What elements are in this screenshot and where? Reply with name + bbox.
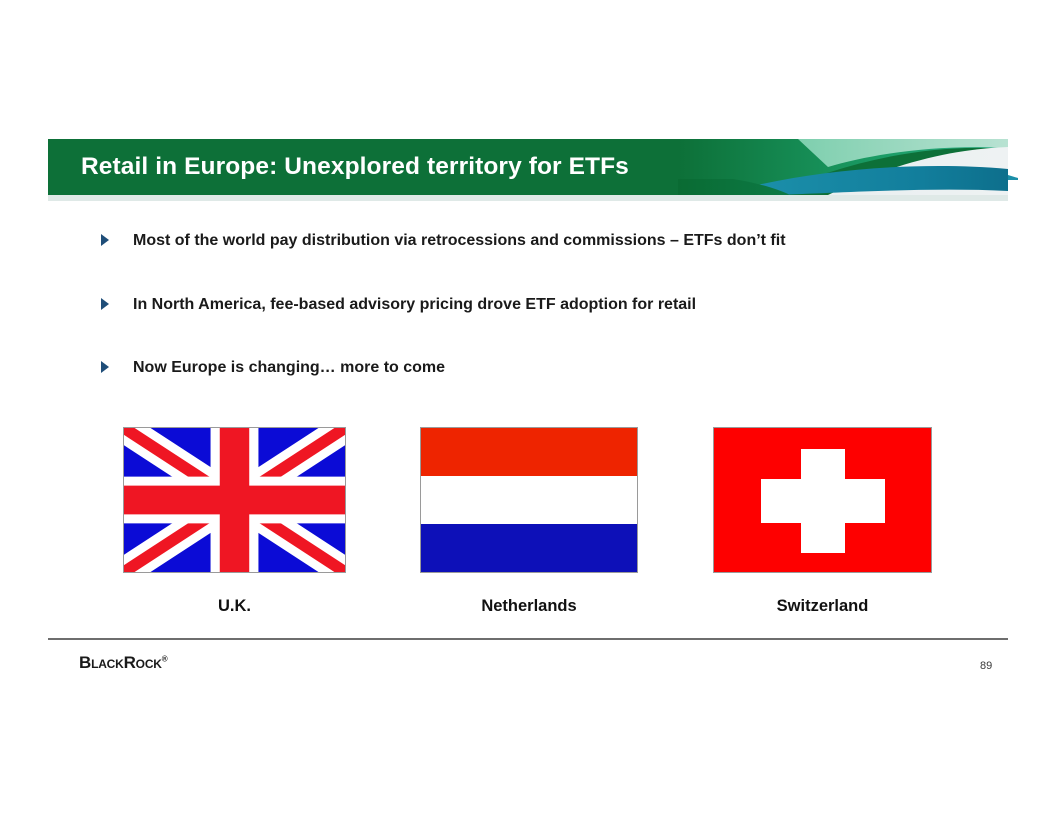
switzerland-flag-icon	[713, 427, 932, 573]
page-title: Retail in Europe: Unexplored territory f…	[81, 139, 629, 195]
union-jack-flag-icon	[123, 427, 346, 573]
ch-cross-horizontal	[761, 479, 885, 523]
bullet-item-1: Most of the world pay distribution via r…	[100, 231, 786, 251]
triangle-right-icon	[100, 233, 110, 253]
page-number: 89	[980, 660, 1020, 672]
flag-caption-uk: U.K.	[123, 597, 346, 616]
title-banner: Retail in Europe: Unexplored territory f…	[48, 139, 1008, 201]
triangle-right-icon	[100, 297, 110, 317]
bullet-item-2: In North America, fee-based advisory pri…	[100, 295, 696, 315]
blackrock-logo-text: BlackRock	[79, 653, 162, 672]
flag-group-netherlands: Netherlands	[420, 427, 638, 616]
bullet-item-3: Now Europe is changing… more to come	[100, 358, 445, 378]
banner-swoosh-graphic	[678, 139, 1008, 201]
flag-caption-switzerland: Switzerland	[713, 597, 932, 616]
nl-stripe-blue	[421, 524, 637, 572]
footer-divider	[48, 638, 1008, 640]
nl-stripe-red	[421, 428, 637, 476]
flag-group-switzerland: Switzerland	[713, 427, 932, 616]
ch-red-field	[714, 428, 931, 572]
nl-stripe-white	[421, 476, 637, 524]
registered-trademark-icon: ®	[162, 654, 168, 663]
triangle-right-icon	[100, 360, 110, 380]
flag-group-uk: U.K.	[123, 427, 346, 616]
banner-swoosh-tail	[1008, 171, 1018, 180]
bullet-text-3: Now Europe is changing… more to come	[133, 358, 445, 378]
netherlands-flag-icon	[420, 427, 638, 573]
blackrock-logo: BlackRock®	[79, 653, 167, 673]
slide-canvas: Retail in Europe: Unexplored territory f…	[0, 0, 1056, 816]
bullet-text-1: Most of the world pay distribution via r…	[133, 231, 786, 251]
bullet-text-2: In North America, fee-based advisory pri…	[133, 295, 696, 315]
flag-caption-netherlands: Netherlands	[420, 597, 638, 616]
